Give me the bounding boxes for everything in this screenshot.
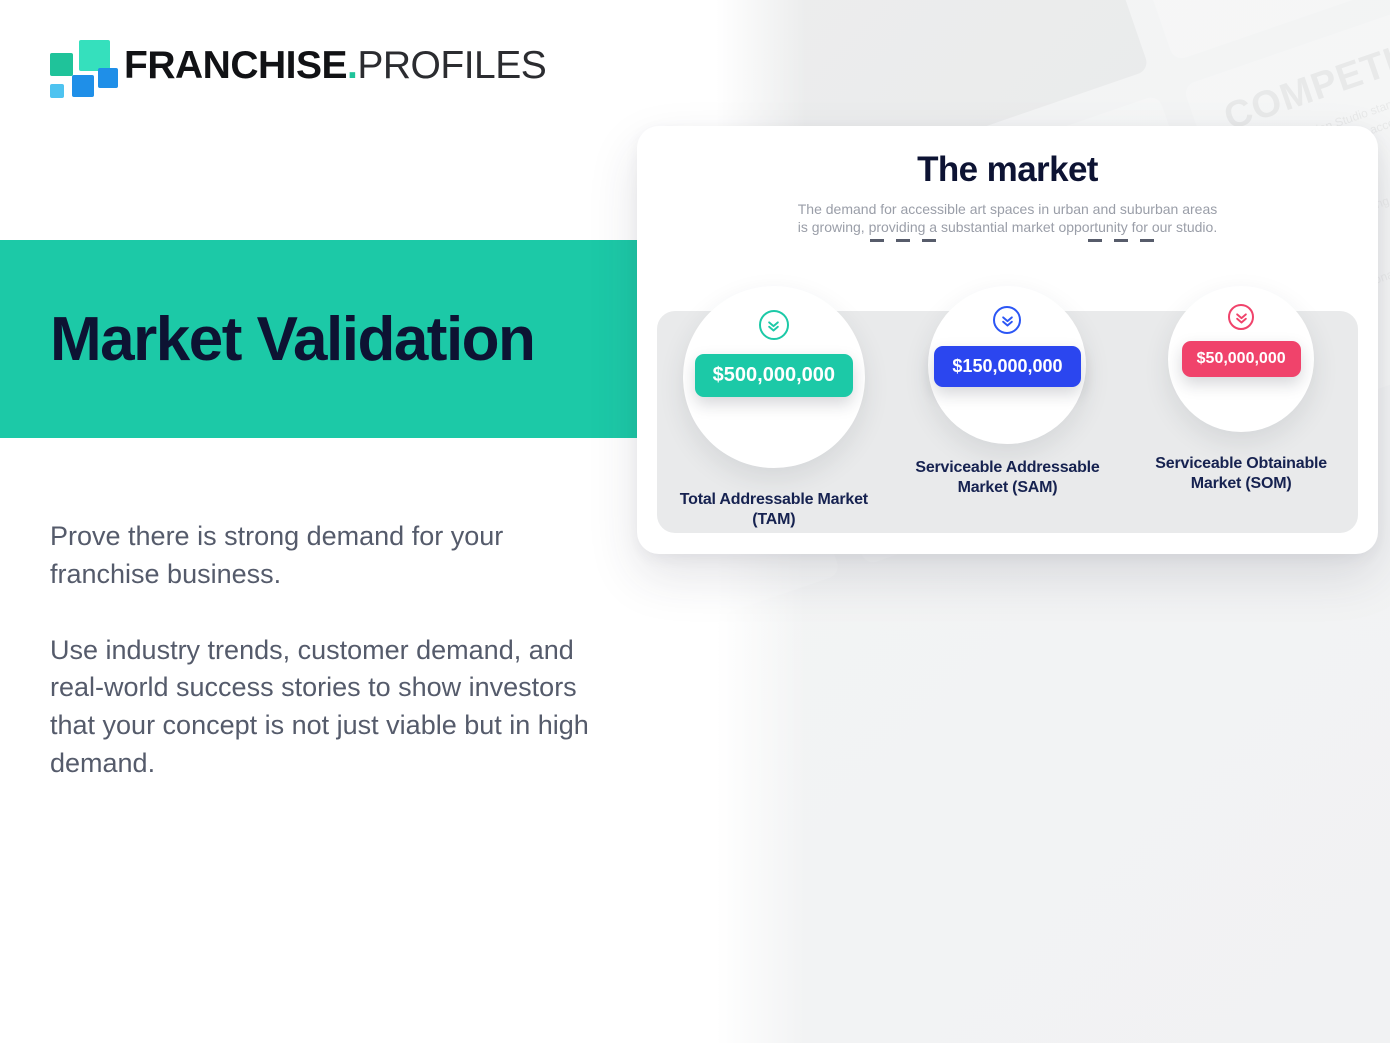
market-card: The market The demand for accessible art… bbox=[637, 126, 1378, 554]
market-card-title: The market bbox=[637, 150, 1378, 190]
market-label-tam: Total Addressable Market (TAM) bbox=[674, 490, 874, 531]
market-card-subtitle: The demand for accessible art spaces in … bbox=[798, 200, 1218, 237]
logo-square-teal bbox=[50, 53, 73, 76]
logo-square-blue bbox=[72, 75, 94, 97]
logo-square-mint bbox=[79, 40, 110, 71]
brand-name-dot: . bbox=[347, 44, 357, 87]
market-label-sam: Serviceable Addressable Market (SAM) bbox=[907, 458, 1107, 499]
body-paragraph-2: Use industry trends, customer demand, an… bbox=[50, 632, 595, 783]
page-title: Market Validation bbox=[50, 304, 534, 375]
market-label-som: Serviceable Obtainable Market (SOM) bbox=[1141, 454, 1341, 495]
logo-squares-icon bbox=[46, 38, 110, 94]
logo-square-light-blue bbox=[50, 84, 64, 98]
brand-logo: FRANCHISE.PROFILES bbox=[46, 38, 546, 94]
market-circle-sam: $150,000,000 bbox=[928, 286, 1086, 444]
title-band: Market Validation bbox=[0, 240, 637, 438]
brand-name-bold: FRANCHISE bbox=[124, 44, 347, 87]
connector-tam-sam bbox=[870, 239, 942, 242]
logo-square-blue-2 bbox=[98, 68, 118, 88]
body-copy: Prove there is strong demand for your fr… bbox=[50, 518, 595, 783]
market-value-som: $50,000,000 bbox=[1182, 341, 1301, 377]
market-tier-sam[interactable]: $150,000,000 Serviceable Addressable Mar… bbox=[907, 286, 1107, 499]
brand-name-light: PROFILES bbox=[357, 44, 546, 87]
double-chevron-down-icon bbox=[1228, 304, 1254, 330]
body-paragraph-1: Prove there is strong demand for your fr… bbox=[50, 518, 595, 594]
market-circle-tam: $500,000,000 bbox=[683, 286, 865, 468]
market-value-tam: $500,000,000 bbox=[695, 354, 853, 397]
market-circle-som: $50,000,000 bbox=[1168, 286, 1314, 432]
double-chevron-down-icon bbox=[759, 310, 789, 340]
double-chevron-down-icon bbox=[993, 306, 1021, 334]
market-tier-som[interactable]: $50,000,000 Serviceable Obtainable Marke… bbox=[1141, 286, 1341, 495]
connector-sam-som bbox=[1088, 239, 1166, 242]
market-tiers: $500,000,000 Total Addressable Market (T… bbox=[657, 286, 1358, 536]
market-value-sam: $150,000,000 bbox=[934, 346, 1080, 387]
brand-wordmark: FRANCHISE.PROFILES bbox=[124, 44, 546, 88]
market-tier-tam[interactable]: $500,000,000 Total Addressable Market (T… bbox=[674, 286, 874, 531]
